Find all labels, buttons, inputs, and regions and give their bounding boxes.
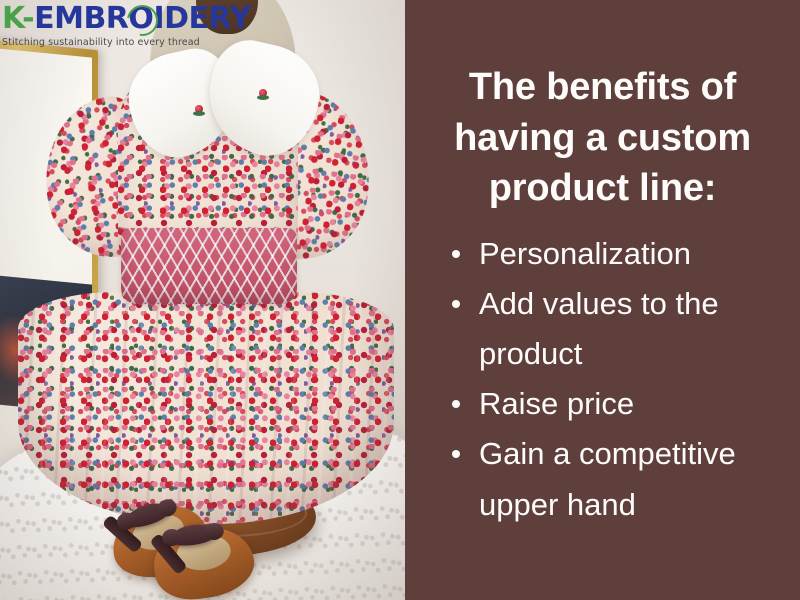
list-item-label: Personalization (479, 236, 691, 271)
embroidered-rose-icon (257, 88, 270, 101)
list-item: Raise price (434, 379, 778, 429)
brand-logo[interactable]: K-EMBROIDERY Stitching sustainability in… (0, 0, 261, 54)
list-item: Personalization (434, 229, 778, 279)
floral-dress (0, 0, 405, 600)
benefits-text-panel: The benefits of having a custom product … (405, 0, 800, 600)
bullet-icon (452, 400, 460, 408)
bullet-icon (452, 450, 460, 458)
benefits-list: Personalization Add values to the produc… (427, 229, 778, 530)
dress-skirt (18, 292, 394, 524)
smocked-band (121, 228, 297, 304)
bullet-icon (452, 300, 460, 308)
bullet-icon (452, 250, 460, 258)
logo-o-group: O (128, 4, 153, 34)
logo-dash: - (22, 1, 34, 36)
logo-wordmark: K-EMBROIDERY (2, 4, 251, 34)
product-photo-panel: K-EMBROIDERY Stitching sustainability in… (0, 0, 405, 600)
embroidered-rose-icon (193, 104, 206, 117)
logo-letter-o: O (128, 1, 153, 36)
list-item-label: Gain a competitive upper hand (479, 436, 736, 521)
promo-banner: K-EMBROIDERY Stitching sustainability in… (0, 0, 800, 600)
logo-text-idery: IDERY (153, 1, 250, 36)
list-item-label: Raise price (479, 386, 634, 421)
list-item: Add values to the product (434, 279, 778, 379)
brand-tagline: Stitching sustainability into every thre… (2, 37, 251, 48)
list-item-label: Add values to the product (479, 286, 719, 371)
page-title: The benefits of having a custom product … (427, 0, 778, 214)
logo-letter-k: K (2, 1, 22, 36)
list-item: Gain a competitive upper hand (434, 429, 778, 529)
logo-text-embr: EMBR (34, 1, 128, 36)
